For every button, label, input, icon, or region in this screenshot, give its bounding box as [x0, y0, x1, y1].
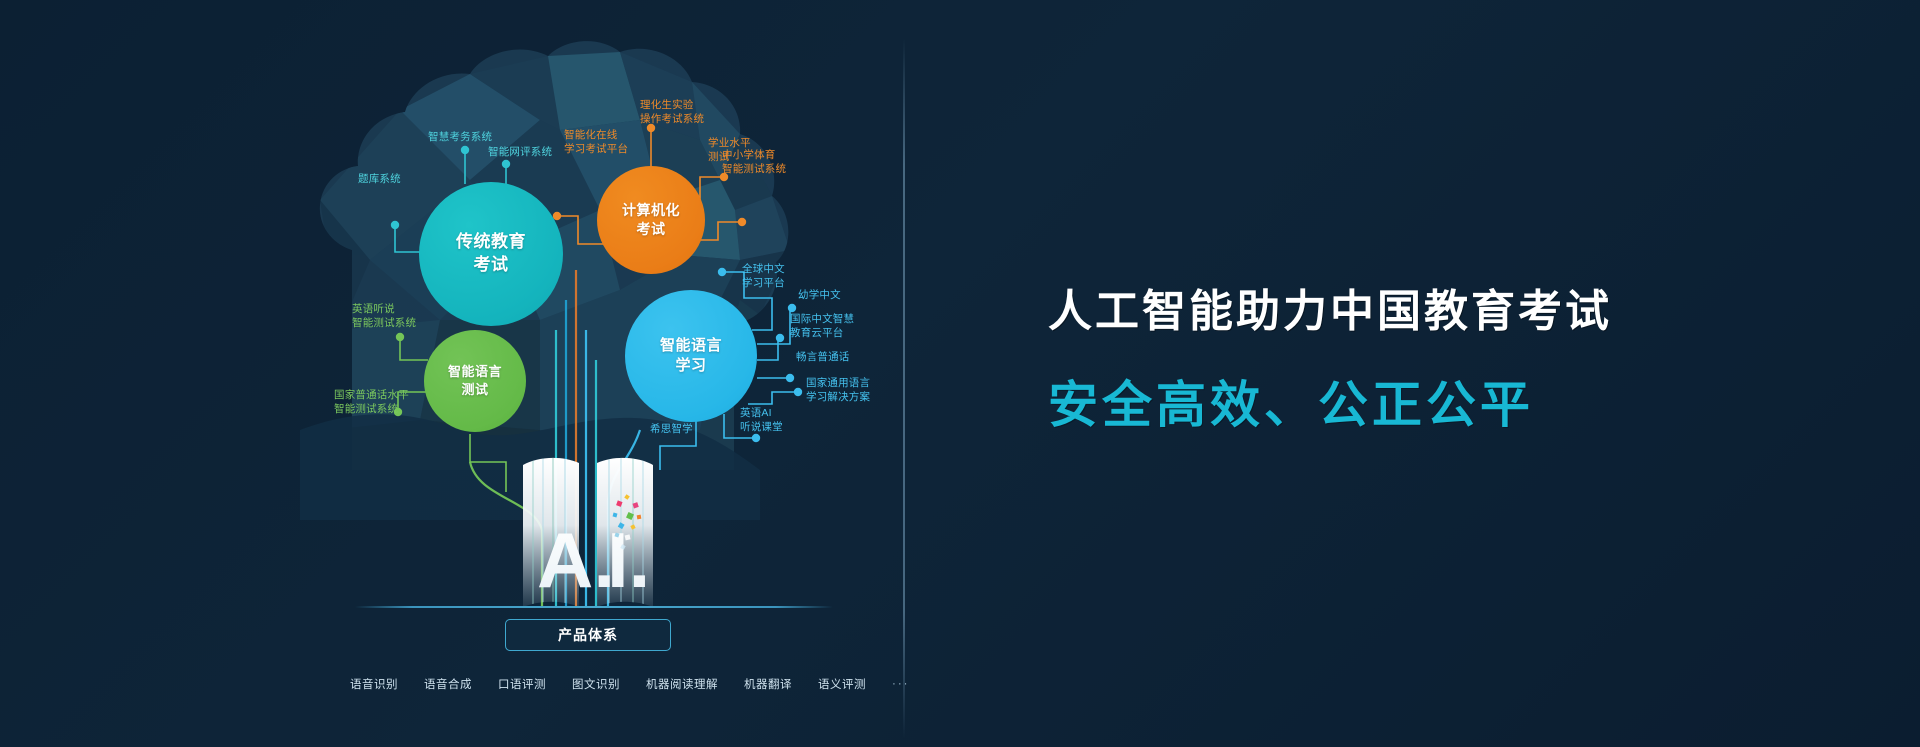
circle-intelligent-language-testing[interactable]: 智能语言 测试 [424, 330, 526, 432]
leaf-label-national-common-language-learning-solution: 国家通用语言 学习解决方案 [806, 376, 870, 404]
circle-label-line1: 计算机化 [622, 201, 680, 220]
leaf-label-intelligent-online-learning-exam-platform: 智能化在线 学习考试平台 [564, 128, 628, 156]
ai-letter-i: I. [607, 516, 650, 604]
tag-ocr[interactable]: 图文识别 [572, 676, 620, 692]
hero-text-block: 人工智能助力中国教育考试 安全高效、公正公平 [1048, 286, 1748, 435]
product-system-pill[interactable]: 产品体系 [505, 619, 671, 651]
circle-intelligent-language-learning[interactable]: 智能语言 学习 [625, 290, 757, 422]
circle-label-line1: 智能语言 [660, 336, 722, 356]
tag-speech-synthesis[interactable]: 语音合成 [424, 676, 472, 692]
leaf-label-xisi-zhixue: 希思智学 [650, 422, 693, 436]
circle-computer-based-exam[interactable]: 计算机化 考试 [597, 166, 705, 274]
leaf-label-k12-sports-intelligent-test-system: 中小学体育 智能测试系统 [722, 148, 786, 176]
circle-label-line1: 传统教育 [456, 231, 526, 254]
circle-label-line2: 测试 [461, 381, 488, 399]
circle-label-line2: 学习 [675, 356, 706, 376]
capability-tag-row: 语音识别 语音合成 口语评测 图文识别 机器阅读理解 机器翻译 语义评测 ··· [350, 676, 910, 692]
leaf-label-changyan-putonghua: 畅言普通话 [796, 350, 850, 364]
base-divider-line [355, 606, 833, 608]
tag-semantic-assessment[interactable]: 语义评测 [818, 676, 866, 692]
leaf-label-national-putonghua-level-test-system: 国家普通话水平 智能测试系统 [334, 388, 409, 416]
leaf-label-intelligent-online-grading-system: 智能网评系统 [488, 145, 552, 159]
leaf-label-global-chinese-learning-platform: 全球中文 学习平台 [742, 262, 785, 290]
ai-letter-a: A. [537, 516, 615, 604]
product-system-label: 产品体系 [558, 625, 618, 645]
leaf-label-english-ai-listening-speaking-class: 英语AI 听说课堂 [740, 406, 783, 434]
tag-speech-recognition[interactable]: 语音识别 [350, 676, 398, 692]
illustration-panel: 传统教育 考试 计算机化 考试 智能语言 学习 智能语言 测试 题库系统 智慧考… [0, 0, 905, 747]
hero-banner: 传统教育 考试 计算机化 考试 智能语言 学习 智能语言 测试 题库系统 智慧考… [0, 0, 1920, 747]
leaf-label-smart-exam-affairs-system: 智慧考务系统 [428, 130, 492, 144]
tag-machine-translation[interactable]: 机器翻译 [744, 676, 792, 692]
leaf-label-english-listening-speaking-test-system: 英语听说 智能测试系统 [352, 302, 416, 330]
tag-more-ellipsis[interactable]: ··· [892, 678, 910, 690]
panel-divider [903, 38, 905, 738]
ai-book-graphic: A. I. [521, 455, 655, 613]
leaf-label-question-bank-system: 题库系统 [358, 172, 401, 186]
circle-traditional-education-exam[interactable]: 传统教育 考试 [419, 182, 563, 326]
circle-label-line2: 考试 [474, 254, 509, 277]
tag-machine-reading[interactable]: 机器阅读理解 [646, 676, 718, 692]
leaf-label-young-learners-chinese: 幼学中文 [798, 288, 841, 302]
tag-oral-assessment[interactable]: 口语评测 [498, 676, 546, 692]
hero-headline: 人工智能助力中国教育考试 [1048, 286, 1748, 339]
circle-label-line2: 考试 [637, 220, 666, 239]
circle-label-line1: 智能语言 [448, 363, 502, 381]
leaf-label-physics-chemistry-biology-lab-exam-system: 理化生实验 操作考试系统 [640, 98, 704, 126]
hero-subheadline: 安全高效、公正公平 [1048, 375, 1748, 435]
leaf-label-international-chinese-smart-education-cloud: 国际中文智慧 教育云平台 [790, 312, 854, 340]
